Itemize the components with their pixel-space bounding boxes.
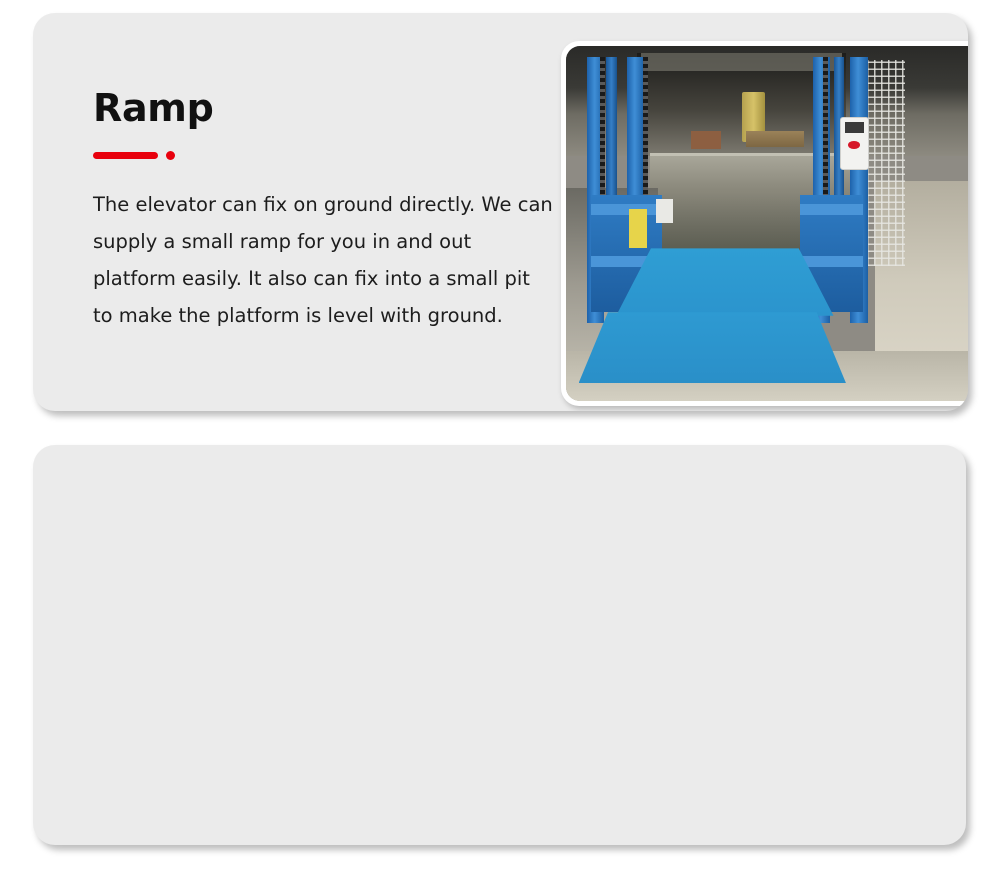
photo-crate: [691, 131, 720, 149]
photo-emergency-stop-button: [848, 141, 860, 149]
page-title-ramp: Ramp: [93, 89, 553, 129]
ramp-photo-frame: [561, 41, 968, 406]
photo-control-panel-screen: [845, 122, 865, 133]
photo-wire-fence: [867, 60, 905, 266]
ramp-description: The elevator can fix on ground directly.…: [93, 186, 553, 334]
ramp-text-block: Ramp The elevator can fix on ground dire…: [93, 89, 553, 334]
product-feature-page: Ramp The elevator can fix on ground dire…: [0, 0, 1000, 875]
hydraulic-cargo-lift-with-ramp-photo: [566, 46, 968, 401]
photo-yellow-warning-tag: [629, 209, 648, 248]
feature-card-ramp: Ramp The elevator can fix on ground dire…: [33, 13, 968, 411]
photo-wooden-pallet: [746, 131, 805, 147]
photo-blue-ramp: [579, 312, 847, 383]
accent-dot-icon: [166, 151, 175, 160]
ramp-description-text: The elevator can fix on ground directly.…: [93, 186, 553, 334]
photo-lift-platform: [616, 248, 833, 315]
photo-white-label: [656, 199, 673, 224]
accent-bar-icon: [93, 152, 158, 159]
photo-gate-bar: [800, 256, 863, 267]
photo-gate-bar: [591, 204, 662, 215]
accent-divider-ramp: [93, 151, 553, 160]
photo-control-panel: [840, 117, 869, 170]
photo-gate-bar: [800, 204, 863, 215]
feature-card-plate-chain: Plate chain We use strength plate chain.…: [33, 445, 966, 845]
